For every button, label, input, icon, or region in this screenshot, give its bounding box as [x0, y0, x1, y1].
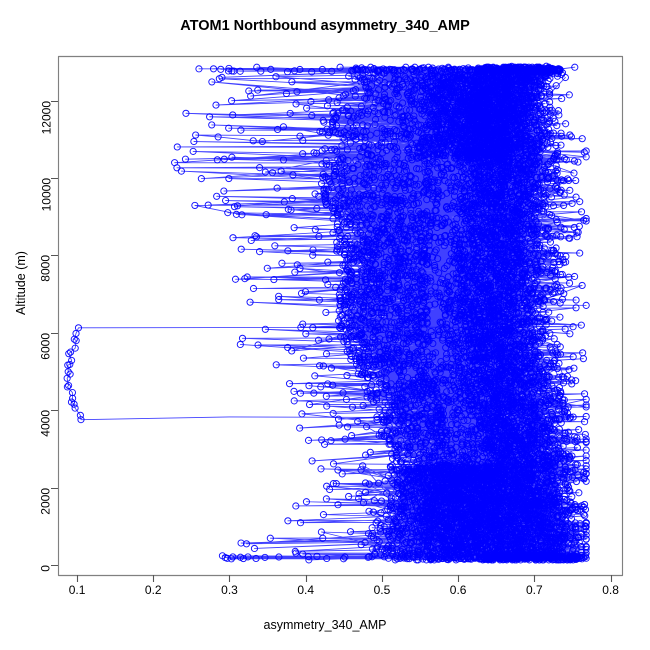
- x-tick-label: 0.1: [69, 583, 86, 597]
- x-tick-label: 0.5: [374, 583, 391, 597]
- y-tick-label: 0: [39, 565, 53, 572]
- x-tick-label: 0.6: [450, 583, 467, 597]
- chart-figure: ATOM1 Northbound asymmetry_340_AMP asymm…: [0, 0, 650, 650]
- x-tick-label: 0.4: [297, 583, 314, 597]
- y-tick-label: 12000: [39, 101, 53, 134]
- y-tick-label: 10000: [39, 178, 53, 211]
- x-tick-label: 0.3: [221, 583, 238, 597]
- y-tick-label: 2000: [39, 488, 53, 515]
- x-tick-label: 0.8: [602, 583, 619, 597]
- y-tick-label: 4000: [39, 410, 53, 437]
- scatter-plot-canvas: [0, 0, 650, 650]
- y-tick-label: 8000: [39, 255, 53, 282]
- x-tick-label: 0.2: [145, 583, 162, 597]
- x-tick-label: 0.7: [526, 583, 543, 597]
- y-axis-label: Altitude (m): [14, 251, 28, 315]
- y-tick-label: 6000: [39, 333, 53, 360]
